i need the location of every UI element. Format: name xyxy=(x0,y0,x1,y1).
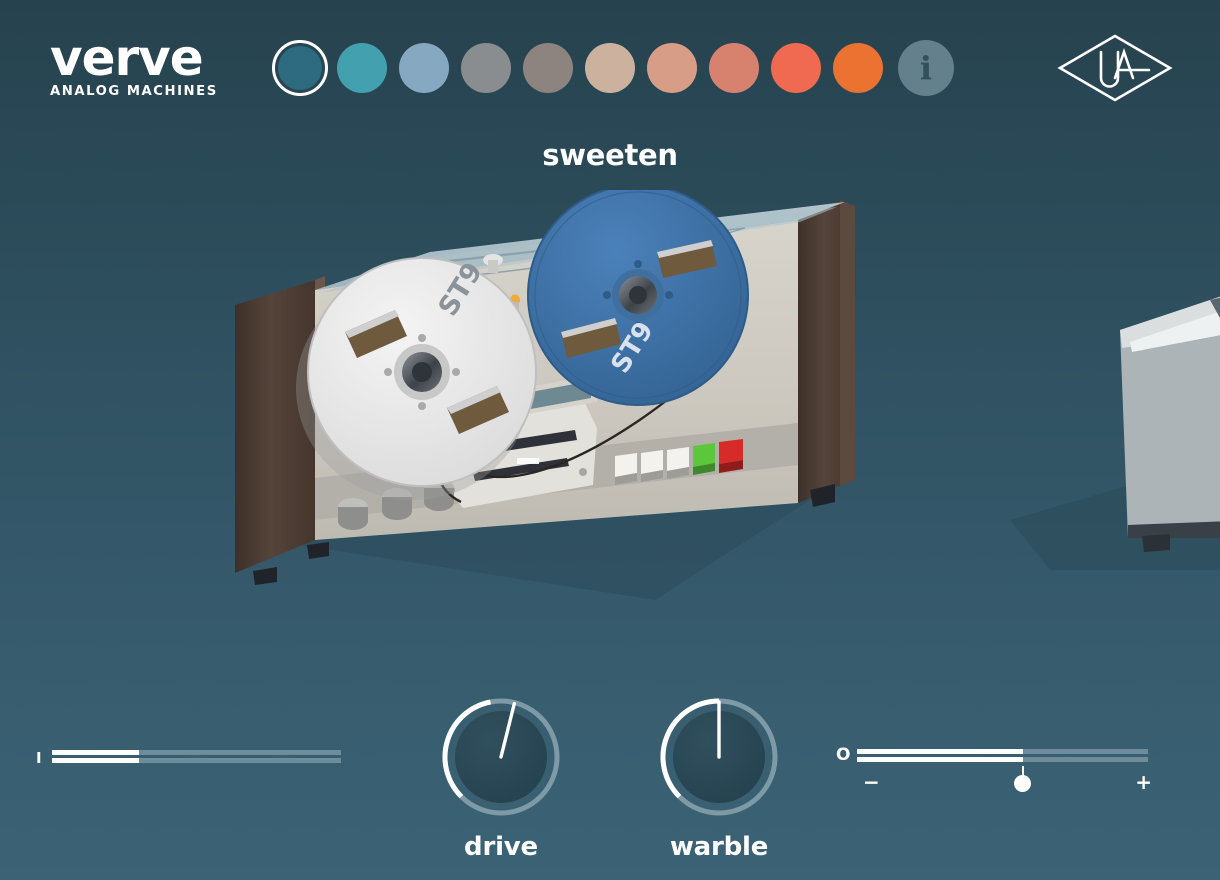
machine-color-swatches: i xyxy=(272,40,954,96)
color-swatch-2[interactable] xyxy=(334,40,390,96)
color-swatch-4[interactable] xyxy=(458,40,514,96)
output-meter-bars[interactable] xyxy=(857,749,1148,765)
output-meter-bar-left xyxy=(857,749,1148,754)
color-swatch-dot xyxy=(523,43,573,93)
info-icon-glyph: i xyxy=(920,52,932,84)
color-swatch-dot xyxy=(585,43,635,93)
input-meter-bar-right xyxy=(52,758,341,763)
machine-carousel[interactable]: ST9 ST9 xyxy=(0,180,1220,660)
color-swatch-5[interactable] xyxy=(520,40,576,96)
drive-knob-dial[interactable] xyxy=(438,694,564,820)
color-swatch-dot xyxy=(833,43,883,93)
color-swatch-dot xyxy=(278,46,322,90)
input-meter-fill-left xyxy=(52,750,139,755)
input-meter-bar-left xyxy=(52,750,341,755)
drive-knob-unit[interactable]: drive xyxy=(421,694,581,862)
output-meter-fill-left xyxy=(857,749,1023,754)
brand-logo: verve ANALOG MACHINES xyxy=(50,38,228,99)
input-meter[interactable]: I xyxy=(36,746,346,774)
slider-plus-label[interactable]: + xyxy=(1135,772,1152,792)
output-meter-label: O xyxy=(836,746,850,764)
drive-knob-label: drive xyxy=(421,832,581,862)
color-swatch-dot xyxy=(709,43,759,93)
color-swatch-9[interactable] xyxy=(768,40,824,96)
universal-audio-logo[interactable] xyxy=(1057,33,1173,103)
color-swatch-8[interactable] xyxy=(706,40,762,96)
color-swatch-dot xyxy=(771,43,821,93)
input-meter-fill-right xyxy=(52,758,139,763)
output-meter-bar-right xyxy=(857,757,1148,762)
warble-knob-label: warble xyxy=(639,832,799,862)
output-meter-fill-right xyxy=(857,757,1023,762)
brand-tagline: ANALOG MACHINES xyxy=(50,84,228,99)
color-swatch-7[interactable] xyxy=(644,40,700,96)
brand-name: verve xyxy=(50,38,228,79)
color-swatch-3[interactable] xyxy=(396,40,452,96)
color-swatch-1[interactable] xyxy=(272,40,328,96)
slider-handle[interactable] xyxy=(1014,775,1031,792)
input-meter-bars xyxy=(52,750,341,766)
color-swatch-dot xyxy=(461,43,511,93)
output-section: O − + xyxy=(836,744,1148,792)
slider-minus-label[interactable]: − xyxy=(863,772,880,792)
color-swatch-10[interactable] xyxy=(830,40,886,96)
warble-knob-dial[interactable] xyxy=(656,694,782,820)
color-swatch-dot xyxy=(647,43,697,93)
info-icon[interactable]: i xyxy=(898,40,954,96)
page-title: sweeten xyxy=(0,138,1220,172)
color-swatch-dot xyxy=(337,43,387,93)
warble-knob-unit[interactable]: warble xyxy=(639,694,799,862)
output-level-slider[interactable]: − + xyxy=(857,766,1148,792)
right-reel: ST9 xyxy=(528,190,748,405)
app-header: verve ANALOG MACHINES i xyxy=(0,0,1220,136)
input-meter-label: I xyxy=(36,749,44,767)
color-swatch-6[interactable] xyxy=(582,40,638,96)
tape-machine-illustration[interactable]: ST9 ST9 xyxy=(225,190,885,640)
color-swatch-dot xyxy=(399,43,449,93)
next-machine-preview[interactable] xyxy=(1010,270,1220,590)
